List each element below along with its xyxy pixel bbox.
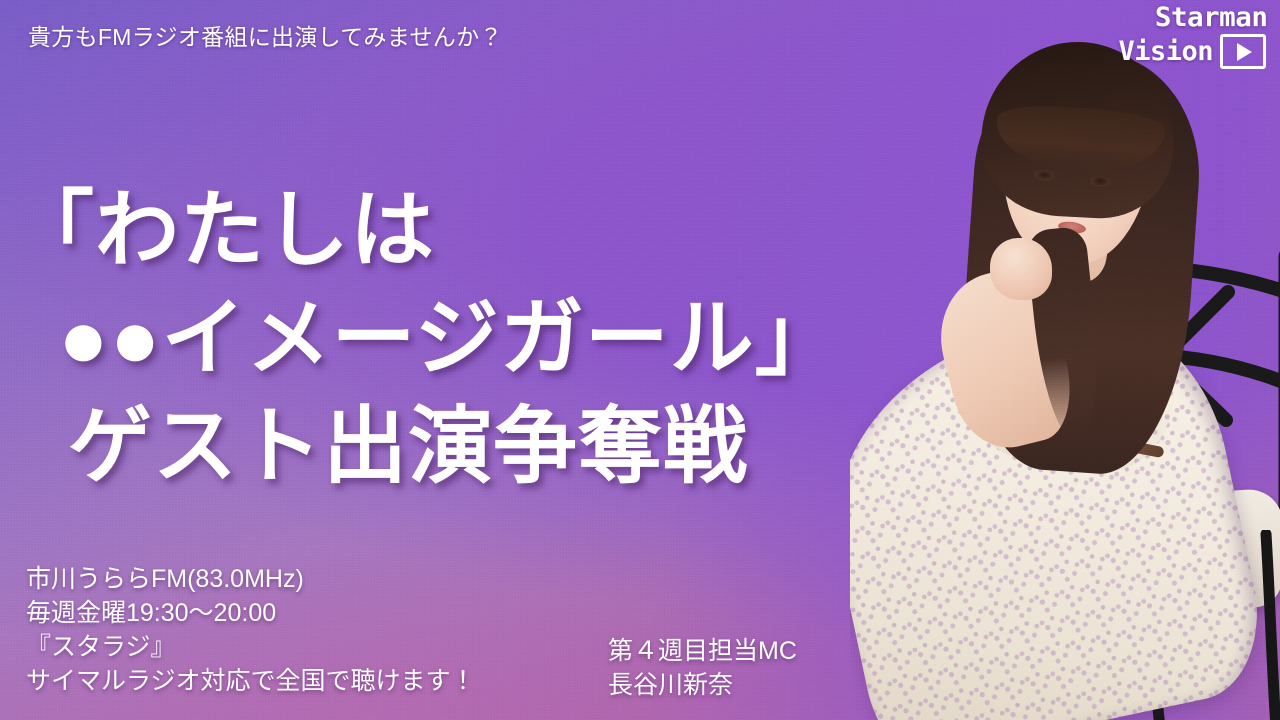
title-line-2: ●●イメージガール」 bbox=[10, 284, 840, 392]
broadcast-schedule: 毎週金曜19:30〜20:00 bbox=[26, 596, 476, 630]
availability-note: サイマルラジオ対応で全国で聴けます！ bbox=[26, 664, 476, 698]
hand bbox=[990, 238, 1052, 300]
mc-name: 長谷川新奈 bbox=[608, 668, 797, 702]
title-line-1: 「わたしは bbox=[10, 176, 840, 284]
main-title: 「わたしは ●●イメージガール」 ゲスト出演争奪戦 bbox=[10, 176, 840, 500]
mc-role: 第４週目担当MC bbox=[608, 634, 797, 668]
tagline: 貴方もFMラジオ番組に出演してみませんか？ bbox=[28, 18, 503, 52]
station-name: 市川うららFM(83.0MHz) bbox=[26, 562, 476, 596]
show-name: 『スタラジ』 bbox=[26, 630, 476, 664]
logo-text-vision: Vision bbox=[1118, 38, 1213, 65]
title-line-3: ゲスト出演争奪戦 bbox=[10, 392, 840, 500]
play-triangle-icon bbox=[1220, 34, 1266, 69]
presenter-photo bbox=[850, 0, 1280, 720]
promo-banner: 貴方もFMラジオ番組に出演してみませんか？ Starman Vision 「わた… bbox=[0, 0, 1280, 720]
logo-text-starman: Starman bbox=[1155, 4, 1268, 31]
program-info: 市川うららFM(83.0MHz) 毎週金曜19:30〜20:00 『スタラジ』 … bbox=[26, 562, 476, 698]
mc-info: 第４週目担当MC 長谷川新奈 bbox=[608, 634, 797, 702]
starman-vision-logo[interactable]: Starman Vision bbox=[1118, 4, 1266, 69]
